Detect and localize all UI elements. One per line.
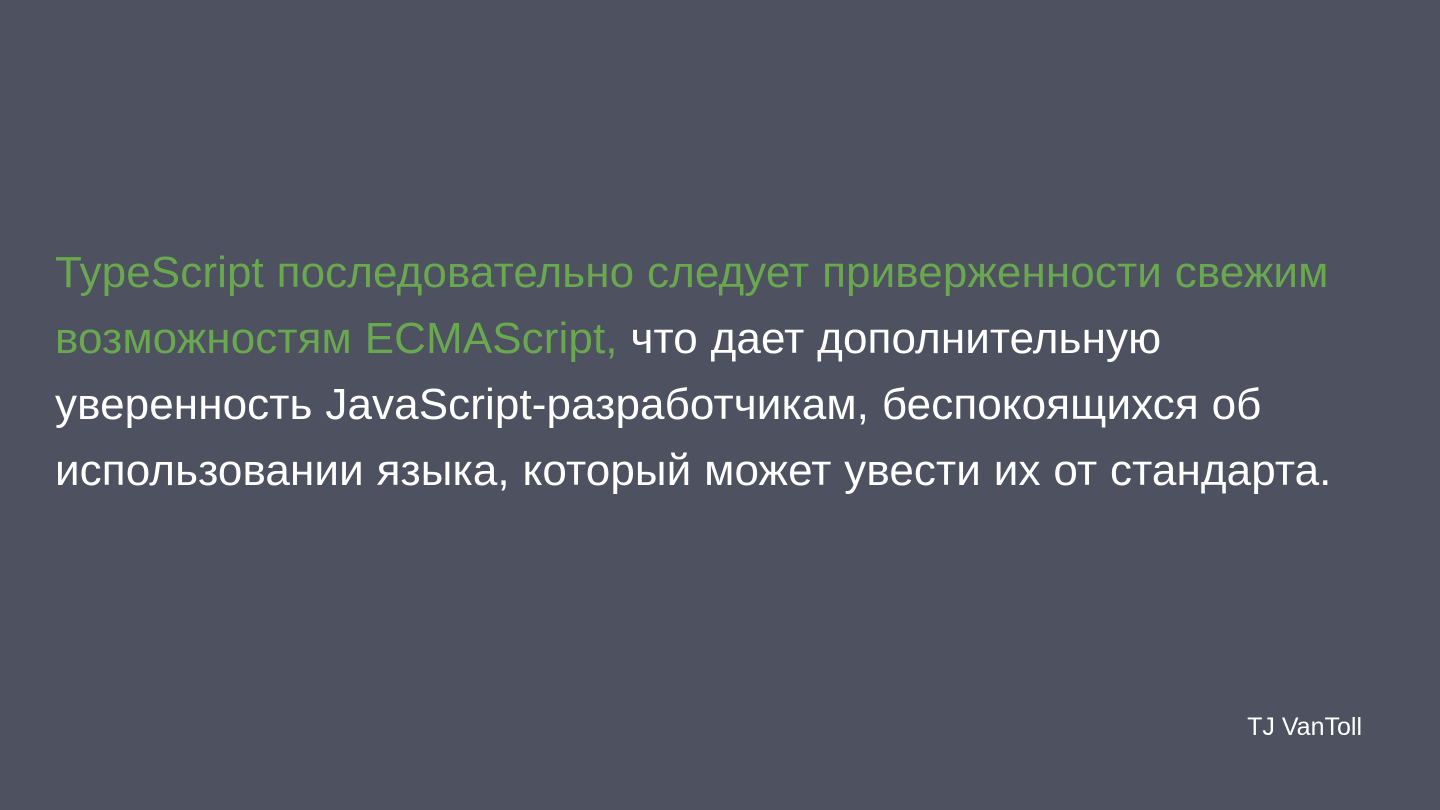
quote-text: TypeScript последовательно следует приве… [55, 240, 1395, 504]
quote-attribution: TJ VanToll [1247, 712, 1362, 742]
quote-slide: TypeScript последовательно следует приве… [0, 0, 1440, 810]
quote-block: TypeScript последовательно следует приве… [55, 240, 1395, 504]
